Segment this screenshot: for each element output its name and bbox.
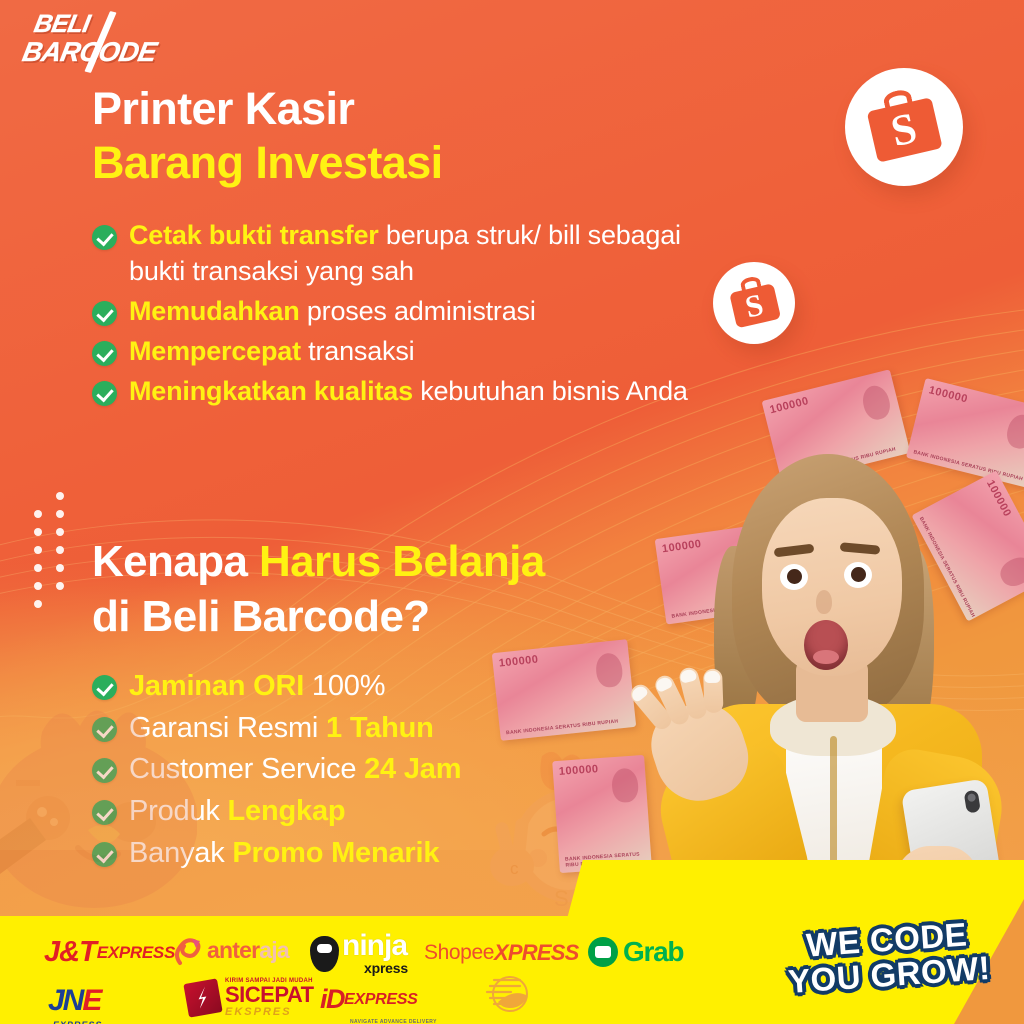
anteraja-label-2: aja xyxy=(259,937,289,964)
hero-photo: 100000 BANK INDONESIA SERATUS RIBU RUPIA… xyxy=(508,378,1024,938)
list-item-highlight: Cetak bukti transfer xyxy=(129,220,379,250)
banknote-portrait xyxy=(1004,412,1024,451)
anteraja-label-1: anter xyxy=(207,937,259,964)
ninja-label-2: xpress xyxy=(364,960,408,976)
courier-logo-id-express: iD EXPRESS NAVIGATE ADVANCE DELIVERY xyxy=(320,984,418,1015)
grab-express-icon xyxy=(588,937,618,967)
courier-logo-anteraja: anter aja xyxy=(172,935,289,966)
pos-bird-icon xyxy=(478,972,534,1022)
shopee-bag-icon-small: S xyxy=(713,262,795,344)
check-icon xyxy=(92,341,117,366)
promo-poster: BELI BARCODE Printer Kasir Barang Invest… xyxy=(0,0,1024,1024)
list-item: Mempercepat transaksi xyxy=(92,334,702,370)
list-item-highlight: Memudahkan xyxy=(129,296,300,326)
list-item: Memudahkan proses administrasi xyxy=(92,294,702,330)
list-item-label: Cetak bukti transfer berupa struk/ bill … xyxy=(129,218,702,290)
jne-label-1: JN xyxy=(48,984,82,1018)
list-item-tail-highlight: 24 Jam xyxy=(364,753,461,785)
list-item: Cetak bukti transfer berupa struk/ bill … xyxy=(92,218,702,290)
banknote: 100000 BANK INDONESIA SERATUS RIBU RUPIA… xyxy=(492,639,636,741)
anteraja-icon xyxy=(172,935,203,966)
section-title-highlight: Harus Belanja xyxy=(259,537,545,586)
courier-logo-pos-indonesia: POS INDONESIA xyxy=(458,972,553,1024)
brand-logo-line2: BARCODE xyxy=(20,39,245,66)
banknote: 100000 BANK INDONESIA SERATUS RIBU RUPIA… xyxy=(552,755,652,873)
banknote-portrait xyxy=(611,767,639,803)
eye-right xyxy=(844,562,872,588)
sicepat-sublabel: EKSPRES xyxy=(225,1006,314,1018)
section-title-plain: Kenapa xyxy=(92,537,259,586)
courier-logo-strip: J&T EXPRESS anter aja ninja xpress xyxy=(0,916,700,1024)
dot-grid-decoration xyxy=(34,492,68,612)
eye-left xyxy=(780,564,808,590)
banknote-value: 100000 xyxy=(927,384,968,405)
brand-logo: BELI BARCODE xyxy=(19,12,251,72)
phone-camera-icon xyxy=(964,790,981,814)
page-title: Printer Kasir Barang Investasi xyxy=(92,82,742,191)
mascot-watermark-left xyxy=(0,672,197,912)
list-item-tail-highlight: 1 Tahun xyxy=(326,712,434,744)
list-item-rest: proses administrasi xyxy=(300,296,536,326)
jne-label-3: EXPRESS xyxy=(53,1020,103,1024)
courier-logo-jne: JN E EXPRESS xyxy=(48,984,100,1018)
idx-tagline: NAVIGATE ADVANCE DELIVERY xyxy=(350,1019,437,1024)
brand-logo-line1: BELI xyxy=(32,12,251,37)
jne-label-2: E xyxy=(82,984,100,1018)
sicepat-label: SICEPAT xyxy=(225,984,314,1006)
banknote-portrait xyxy=(594,652,623,689)
banknote-value: 100000 xyxy=(769,395,810,416)
check-icon xyxy=(92,225,117,250)
check-icon xyxy=(92,301,117,326)
list-item-tail-plain: 100% xyxy=(304,670,385,702)
list-item-highlight: Meningkatkan kualitas xyxy=(129,376,413,406)
banknote-portrait xyxy=(996,552,1024,591)
banknote-bank: BANK INDONESIA SERATUS RIBU RUPIAH xyxy=(506,719,619,737)
mouth xyxy=(804,620,848,670)
jnt-mark: J&T xyxy=(44,936,96,969)
banknote-value: 100000 xyxy=(498,654,539,670)
banknote-value: 100000 xyxy=(559,763,599,778)
courier-row-2: JN E EXPRESS KIRIM SAMPAI JADI MUDAH SIC… xyxy=(0,978,640,1022)
grab-label: Grab xyxy=(623,936,683,968)
ninja-pin-icon xyxy=(310,936,339,972)
idx-label-1: iD xyxy=(320,984,344,1015)
banknote-portrait xyxy=(860,383,893,422)
list-item-label: Mempercepat transaksi xyxy=(129,334,414,370)
page-title-line2: Barang Investasi xyxy=(92,136,742,190)
list-item-tail-highlight: Lengkap xyxy=(228,795,346,827)
shopee-bag-icon-large: S xyxy=(845,68,963,186)
check-icon xyxy=(92,381,117,406)
courier-logo-jnt: J&T EXPRESS xyxy=(44,936,175,969)
courier-logo-grab: Grab xyxy=(588,936,683,968)
page-title-line1: Printer Kasir xyxy=(92,82,742,136)
xpress-label: XPRESS xyxy=(494,940,578,966)
nose xyxy=(816,590,832,614)
ninja-label-1: ninja xyxy=(342,932,408,959)
courier-row-1: J&T EXPRESS anter aja ninja xpress xyxy=(0,930,700,974)
shopee-label: Shopee xyxy=(424,941,494,965)
list-item-tail-highlight: Promo Menarik xyxy=(232,837,439,869)
courier-logo-ninja: ninja xpress xyxy=(310,932,408,976)
sicepat-bolt-icon xyxy=(183,978,222,1017)
list-item-rest: transaksi xyxy=(301,336,415,366)
idx-label-2: EXPRESS xyxy=(344,991,418,1009)
courier-logo-sicepat: KIRIM SAMPAI JADI MUDAH SICEPAT EKSPRES xyxy=(186,978,314,1018)
list-item-label: Memudahkan proses administrasi xyxy=(129,294,536,330)
slogan-badge: WE CODE YOU GROW! xyxy=(769,908,1006,1008)
jnt-label: EXPRESS xyxy=(97,943,175,963)
list-item-highlight: Mempercepat xyxy=(129,336,301,366)
courier-logo-shopee-xpress: Shopee XPRESS xyxy=(424,940,578,966)
